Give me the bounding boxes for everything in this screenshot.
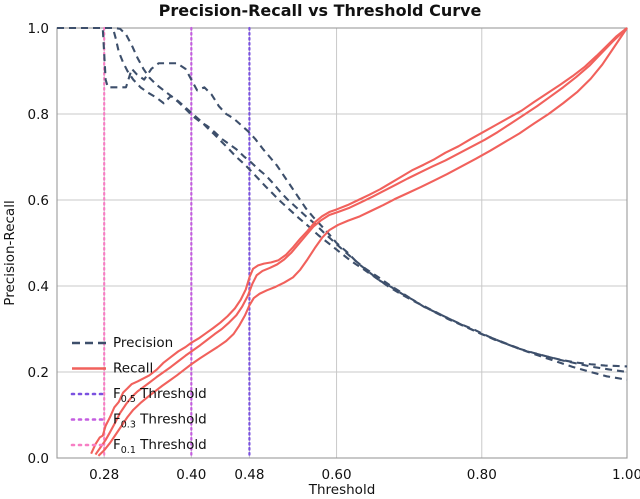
legend-label-1: Recall (113, 361, 153, 377)
y-tick-label: 0.2 (28, 365, 49, 381)
y-tick-label: 0.6 (28, 193, 49, 209)
y-tick-label: 0.4 (28, 279, 49, 295)
precision-recall-chart: 0.280.400.480.600.801.00 0.00.20.40.60.8… (0, 0, 640, 499)
y-tick-label: 0.0 (28, 451, 49, 467)
chart-background (0, 0, 640, 499)
y-tick-label: 1.0 (28, 21, 49, 37)
chart-figure: 0.280.400.480.600.801.00 0.00.20.40.60.8… (0, 0, 640, 499)
y-axis-label: Precision-Recall (2, 200, 18, 305)
chart-title: Precision-Recall vs Threshold Curve (159, 1, 482, 20)
x-axis-label: Threshold (308, 482, 376, 498)
x-tick-label: 1.00 (612, 467, 640, 483)
legend-label-0: Precision (113, 335, 173, 351)
y-tick-label: 0.8 (28, 107, 49, 123)
x-tick-label: 0.80 (467, 467, 497, 483)
x-tick-label: 0.28 (89, 467, 119, 483)
x-tick-label: 0.48 (234, 467, 264, 483)
x-tick-label: 0.40 (176, 467, 206, 483)
x-tick-label: 0.60 (322, 467, 352, 483)
